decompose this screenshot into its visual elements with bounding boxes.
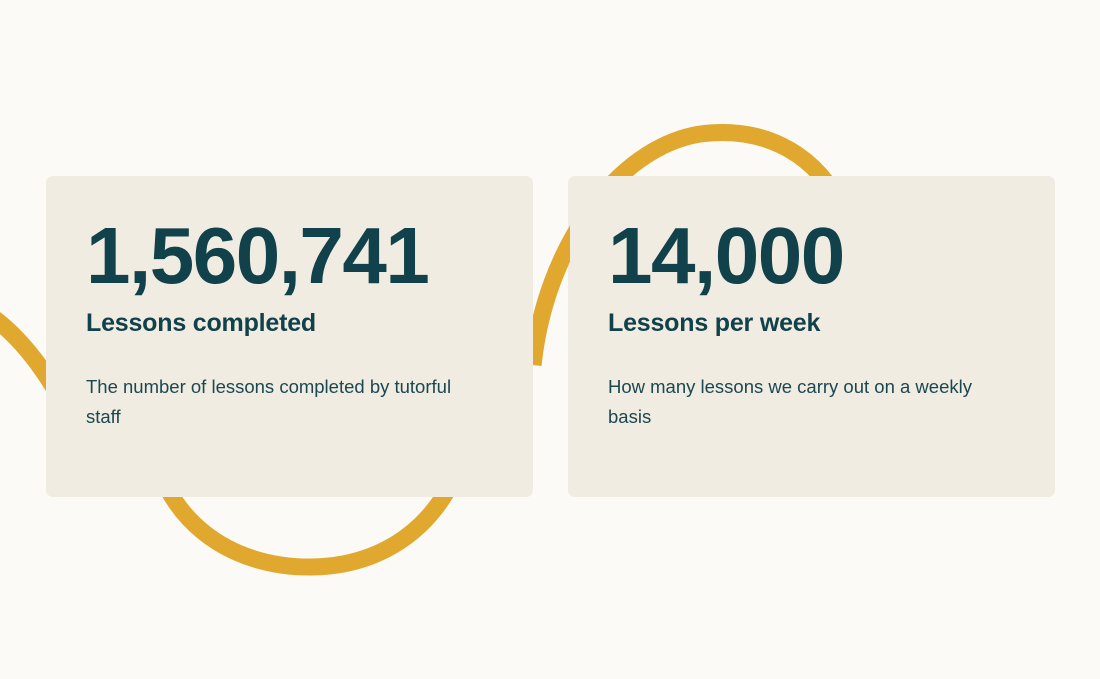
stat-value: 14,000 <box>608 214 844 298</box>
stat-card-lessons-per-week: 14,000 Lessons per week How many lessons… <box>568 176 1055 497</box>
arc-top-right-gap-icon <box>533 132 570 365</box>
stat-description: The number of lessons completed by tutor… <box>86 372 466 432</box>
decorative-arc-gap-layer <box>533 0 570 679</box>
stat-description: How many lessons we carry out on a weekl… <box>608 372 988 432</box>
stat-card-content: 14,000 Lessons per week How many lessons… <box>608 176 1031 497</box>
stat-card-content: 1,560,741 Lessons completed The number o… <box>86 176 509 497</box>
stats-section: 1,560,741 Lessons completed The number o… <box>0 0 1100 679</box>
stat-value: 1,560,741 <box>86 214 428 298</box>
stat-label: Lessons completed <box>86 307 316 339</box>
decorative-arc-gap-svg <box>533 0 570 679</box>
stat-card-lessons-completed: 1,560,741 Lessons completed The number o… <box>46 176 533 497</box>
stat-label: Lessons per week <box>608 307 820 339</box>
